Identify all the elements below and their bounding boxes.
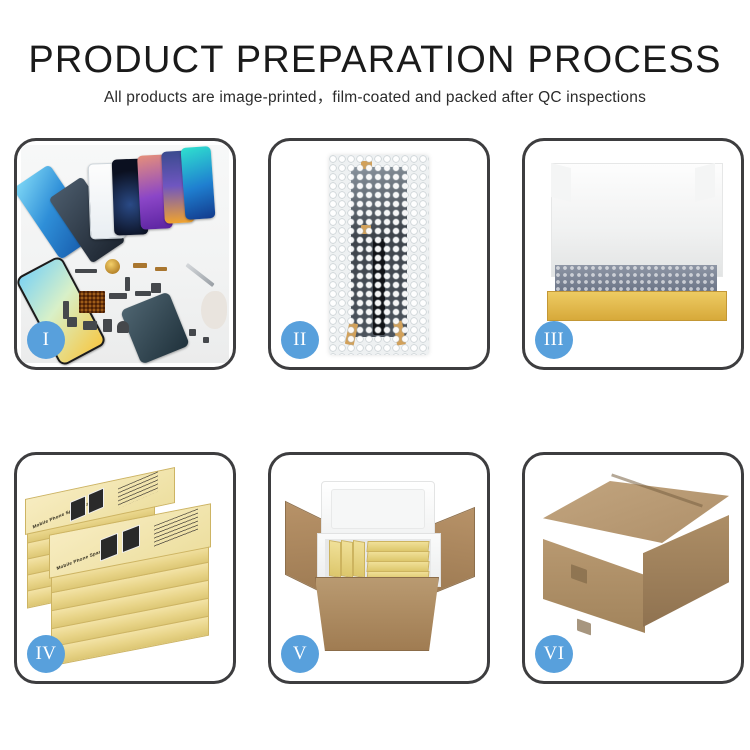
- ribbon-part-icon: [75, 269, 97, 273]
- screw-part-icon: [203, 337, 209, 343]
- box-flap-right-icon: [695, 163, 715, 202]
- step-badge-1: I: [27, 321, 65, 359]
- process-step-panel-5: V: [268, 452, 490, 684]
- step-badge-2: II: [281, 321, 319, 359]
- step-badge-3: III: [535, 321, 573, 359]
- speaker-part-icon: [103, 319, 112, 332]
- copper-contact-icon: [133, 263, 147, 268]
- antenna-part-icon: [63, 301, 69, 319]
- sensor-part-icon: [151, 283, 161, 293]
- box-thumbnail-icon: [88, 487, 104, 514]
- packed-box-strip: [329, 540, 341, 578]
- box-thumbnail-icon: [122, 524, 140, 553]
- process-step-panel-3: III: [522, 138, 744, 370]
- process-step-panel-4: Mobile Phone Spare Parts Mobile Phone Sp…: [14, 452, 236, 684]
- box-spec-lines: [154, 509, 198, 548]
- tape-icon: [361, 225, 371, 234]
- tape-icon: [345, 322, 358, 345]
- packed-box-strip: [341, 540, 353, 578]
- teal-phone-icon: [181, 146, 216, 220]
- box-spec-lines: [118, 471, 158, 508]
- carton-body-icon: [315, 577, 439, 651]
- hand-icon: [201, 291, 227, 329]
- coil-part-icon: [105, 259, 120, 274]
- bubble-wrapped-contents-icon: [555, 265, 717, 291]
- box-front-panel-icon: [547, 291, 727, 321]
- tape-icon: [361, 161, 372, 169]
- packed-box-strip: [353, 540, 365, 578]
- connector-part-icon: [125, 277, 130, 291]
- flex-part-icon: [109, 293, 127, 299]
- box-flap-left-icon: [551, 163, 571, 202]
- copper-contact-icon: [155, 267, 167, 271]
- process-panel-grid: I II III: [0, 0, 750, 750]
- step-badge-6: VI: [535, 635, 573, 673]
- screen-assembly-icon: [351, 167, 407, 337]
- taptic-part-icon: [117, 321, 129, 333]
- camera-part-icon: [83, 321, 97, 330]
- process-step-panel-2: II: [268, 138, 490, 370]
- bubble-wrap-bag-icon: [329, 155, 429, 355]
- screw-part-icon: [189, 329, 196, 336]
- cable-part-icon: [135, 291, 151, 296]
- step-badge-4: IV: [27, 635, 65, 673]
- flex-cable-icon: [373, 239, 385, 335]
- box-thumbnail-icon: [70, 495, 86, 522]
- chip-array-icon: [79, 291, 105, 313]
- step-badge-5: V: [281, 635, 319, 673]
- process-step-panel-6: VI: [522, 452, 744, 684]
- tape-icon: [393, 320, 406, 345]
- process-step-panel-1: I: [14, 138, 236, 370]
- box-thumbnail-icon: [100, 533, 118, 562]
- foam-lid-inner-icon: [331, 489, 425, 529]
